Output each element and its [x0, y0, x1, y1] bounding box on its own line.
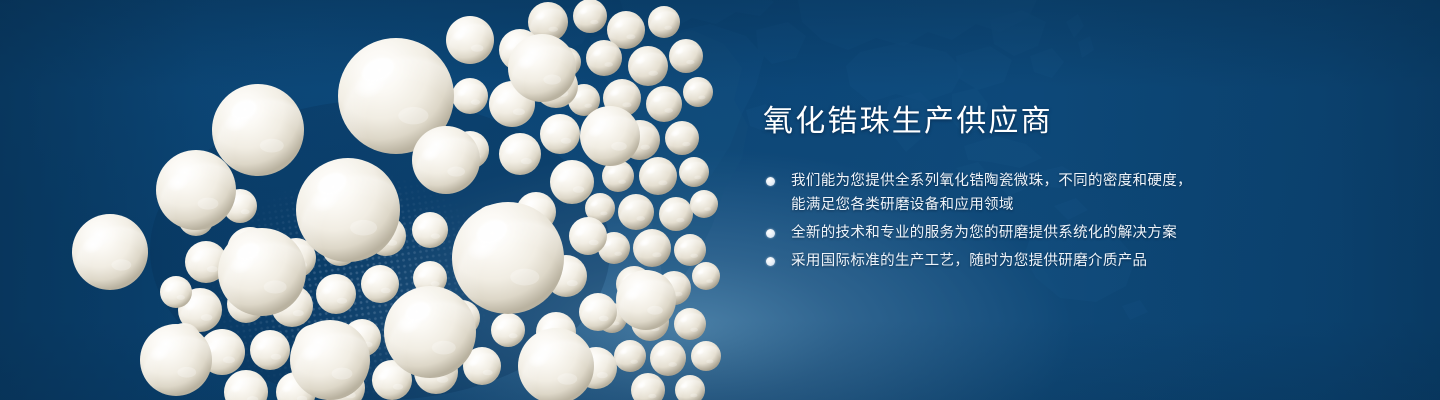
bullet-line: 能满足您各类研磨设备和应用领域	[791, 193, 1223, 217]
hero-banner: 氧化锆珠生产供应商 我们能为您提供全系列氧化锆陶瓷微珠，不同的密度和硬度， 能满…	[0, 0, 1440, 400]
bullet-line: 采用国际标准的生产工艺，随时为您提供研磨介质产品	[791, 249, 1223, 273]
banner-bullet-item: 我们能为您提供全系列氧化锆陶瓷微珠，不同的密度和硬度， 能满足您各类研磨设备和应…	[763, 169, 1223, 217]
bullet-dot-icon	[766, 229, 775, 238]
banner-text-column: 氧化锆珠生产供应商 我们能为您提供全系列氧化锆陶瓷微珠，不同的密度和硬度， 能满…	[763, 104, 1223, 277]
zirconia-beads-image	[0, 0, 760, 400]
bullet-line: 我们能为您提供全系列氧化锆陶瓷微珠，不同的密度和硬度，	[791, 169, 1223, 193]
bullet-line: 全新的技术和专业的服务为您的研磨提供系统化的解决方案	[791, 221, 1223, 245]
banner-bullet-item: 采用国际标准的生产工艺，随时为您提供研磨介质产品	[763, 249, 1223, 273]
banner-bullet-item: 全新的技术和专业的服务为您的研磨提供系统化的解决方案	[763, 221, 1223, 245]
bullet-dot-icon	[766, 257, 775, 266]
banner-bullet-list: 我们能为您提供全系列氧化锆陶瓷微珠，不同的密度和硬度， 能满足您各类研磨设备和应…	[763, 169, 1223, 273]
banner-headline: 氧化锆珠生产供应商	[763, 104, 1223, 139]
bullet-dot-icon	[766, 177, 775, 186]
